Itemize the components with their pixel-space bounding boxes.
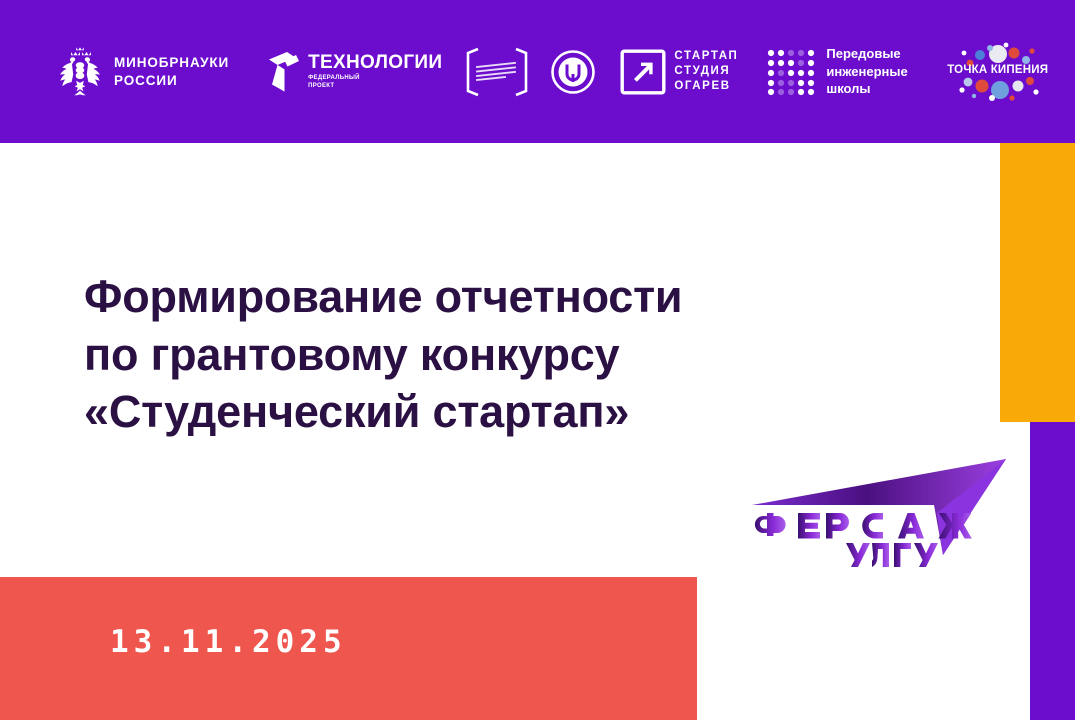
partner-logo-strip: МИНОБРНАУКИ РОССИИ ТЕХНОЛОГИИ bbox=[0, 0, 1075, 143]
logo-forsazh-ulgu bbox=[738, 443, 1028, 573]
logo-boiling-point: ТОЧКА КИПЕНИЯ bbox=[938, 40, 1058, 104]
logo-technologies-subtitle-line2: ПРОЕКТ bbox=[308, 83, 334, 89]
dot-grid-icon bbox=[766, 48, 816, 96]
logo-u-circle bbox=[550, 49, 596, 95]
logo-engineering-schools-text: Передовые инженерные школы bbox=[826, 45, 907, 99]
logo-technologies-subtitle: ФЕДЕРАЛЬНЫЙ ПРОЕКТ bbox=[308, 75, 442, 90]
event-date: 13.11.2025 bbox=[110, 624, 347, 660]
tech-arrow-mark-icon bbox=[263, 50, 303, 94]
right-purple-accent-block bbox=[1030, 422, 1075, 720]
arrow-in-square-icon bbox=[620, 49, 666, 95]
page-title-line-3: «Студенческий стартап» bbox=[84, 383, 844, 441]
logo-startup-studio-line3: ОГАРЕВ bbox=[674, 79, 738, 94]
logo-engineering-schools-line2: инженерные bbox=[826, 64, 907, 79]
logo-minobrnauki-line2: РОССИИ bbox=[114, 73, 178, 88]
yellow-accent-block bbox=[1000, 143, 1075, 422]
logo-engineering-schools-line1: Передовые bbox=[826, 46, 900, 61]
logo-startup-studio-text: СТАРТАП СТУДИЯ ОГАРЕВ bbox=[674, 49, 738, 93]
brackets-platform-icon bbox=[464, 45, 530, 99]
logo-technologies-subtitle-line1: ФЕДЕРАЛЬНЫЙ bbox=[308, 75, 360, 81]
u-circle-icon bbox=[550, 49, 596, 95]
logo-boiling-point-label: ТОЧКА КИПЕНИЯ bbox=[938, 64, 1058, 76]
logo-startup-studio: СТАРТАП СТУДИЯ ОГАРЕВ bbox=[620, 49, 738, 95]
logo-technologies: ТЕХНОЛОГИИ ФЕДЕРАЛЬНЫЙ ПРОЕКТ bbox=[263, 50, 442, 94]
logo-technologies-title: ТЕХНОЛОГИИ bbox=[308, 53, 442, 72]
logo-platform bbox=[464, 45, 530, 99]
double-headed-eagle-icon bbox=[58, 46, 102, 98]
logo-minobrnauki-line1: МИНОБРНАУКИ bbox=[114, 55, 229, 70]
page-title: Формирование отчетности по грантовому ко… bbox=[84, 268, 844, 441]
logo-engineering-schools-line3: школы bbox=[826, 81, 870, 96]
logo-startup-studio-line1: СТАРТАП bbox=[674, 49, 738, 64]
coral-date-block bbox=[0, 577, 697, 720]
page-title-line-2: по грантовому конкурсу bbox=[84, 326, 844, 384]
forsazh-swoosh-icon bbox=[738, 443, 1028, 573]
logo-technologies-text: ТЕХНОЛОГИИ ФЕДЕРАЛЬНЫЙ ПРОЕКТ bbox=[308, 53, 442, 90]
page-title-line-1: Формирование отчетности bbox=[84, 268, 844, 326]
logo-startup-studio-line2: СТУДИЯ bbox=[674, 64, 738, 79]
logo-engineering-schools: Передовые инженерные школы bbox=[766, 45, 907, 99]
presentation-slide: МИНОБРНАУКИ РОССИИ ТЕХНОЛОГИИ bbox=[0, 0, 1075, 720]
logo-minobrnauki-label: МИНОБРНАУКИ РОССИИ bbox=[114, 54, 229, 90]
logo-minobrnauki: МИНОБРНАУКИ РОССИИ bbox=[58, 46, 229, 98]
